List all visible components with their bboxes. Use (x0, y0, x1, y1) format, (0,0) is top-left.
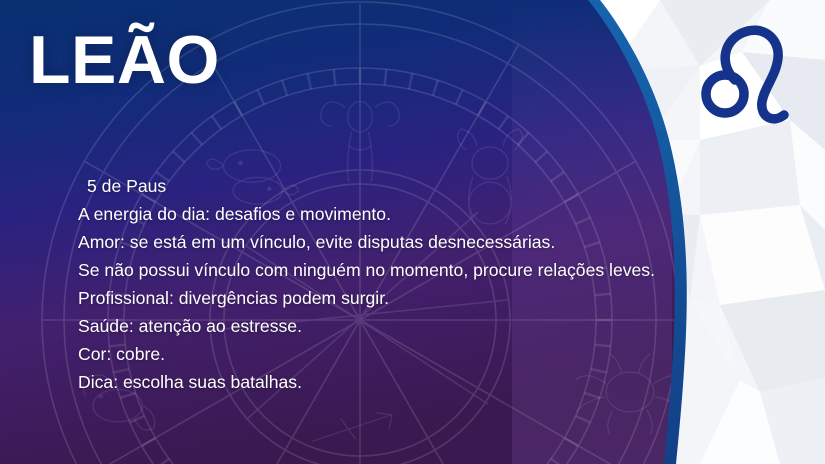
reading-line-love-2: Se não possui vínculo com ninguém no mom… (78, 256, 708, 284)
reading-line-love-1: Amor: se está em um vínculo, evite dispu… (78, 228, 708, 256)
horoscope-reading: 5 de Paus A energia do dia: desafios e m… (78, 172, 708, 396)
reading-line-energy: A energia do dia: desafios e movimento. (78, 200, 708, 228)
reading-line-tarot-card: 5 de Paus (78, 172, 708, 200)
reading-line-color: Cor: cobre. (78, 340, 708, 368)
reading-line-tip: Dica: escolha suas batalhas. (78, 368, 708, 396)
leo-icon (700, 16, 804, 132)
reading-line-health: Saúde: atenção ao estresse. (78, 312, 708, 340)
reading-line-professional: Profissional: divergências podem surgir. (78, 284, 708, 312)
page-title: LEÃO (29, 26, 220, 94)
horoscope-card: LEÃO 5 de Paus A energia do dia: desafio… (0, 0, 825, 464)
